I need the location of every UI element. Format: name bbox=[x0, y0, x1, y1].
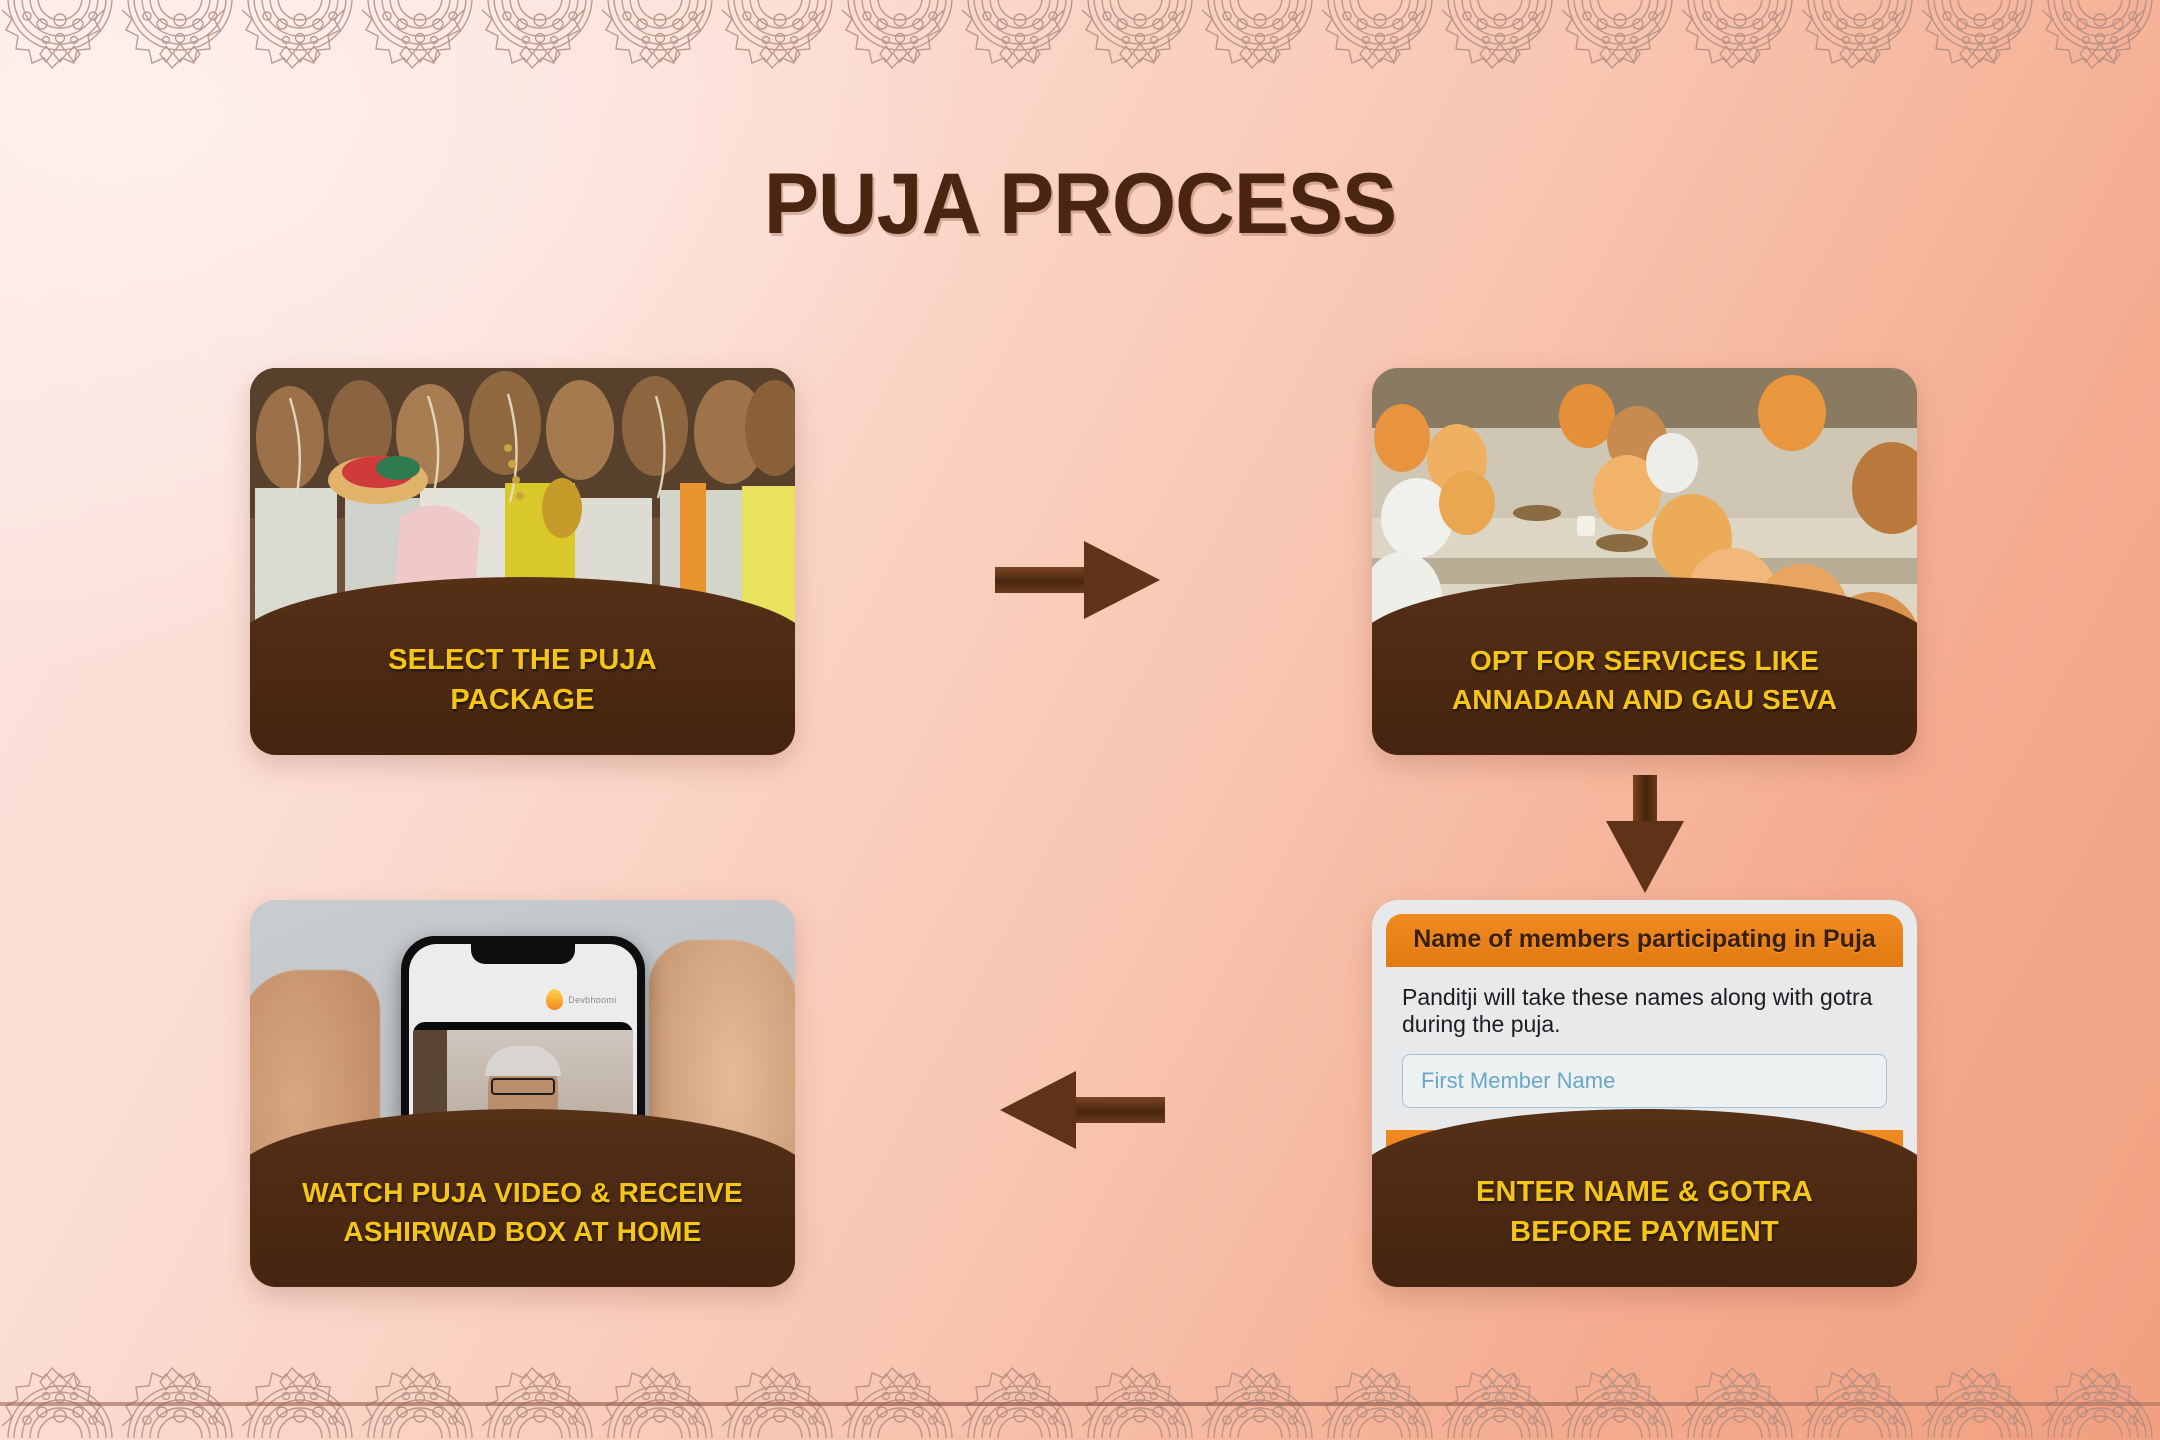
step-2-caption-band: OPT FOR SERVICES LIKE ANNADAAN AND GAU S… bbox=[1372, 540, 1917, 755]
step-2-caption-line1: OPT FOR SERVICES LIKE bbox=[1470, 644, 1819, 677]
step-3-caption-band: ENTER NAME & GOTRA BEFORE PAYMENT bbox=[1372, 1072, 1917, 1287]
step-card-3[interactable]: Name of members participating in Puja Pa… bbox=[1372, 900, 1917, 1287]
page-title: PUJA PROCESS bbox=[43, 155, 2117, 254]
step-4-caption-band: WATCH PUJA VIDEO & RECEIVE ASHIRWAD BOX … bbox=[250, 1072, 795, 1287]
step-4-caption-line1: WATCH PUJA VIDEO & RECEIVE bbox=[302, 1176, 743, 1209]
step-1-caption-band: SELECT THE PUJA PACKAGE bbox=[250, 540, 795, 755]
step-3-caption-line2: BEFORE PAYMENT bbox=[1510, 1215, 1779, 1249]
step-4-caption-line2: ASHIRWAD BOX AT HOME bbox=[343, 1215, 701, 1248]
arrow-head bbox=[1084, 541, 1160, 619]
bottom-divider-line bbox=[0, 1402, 2160, 1406]
phone-notch bbox=[471, 944, 575, 964]
step-1-caption-line1: SELECT THE PUJA bbox=[388, 643, 657, 677]
step-card-2[interactable]: OPT FOR SERVICES LIKE ANNADAAN AND GAU S… bbox=[1372, 368, 1917, 755]
step-4-caption: WATCH PUJA VIDEO & RECEIVE ASHIRWAD BOX … bbox=[250, 1137, 795, 1287]
step-3-caption-line1: ENTER NAME & GOTRA bbox=[1476, 1175, 1813, 1209]
arrow-head bbox=[1000, 1071, 1076, 1149]
arrow-shaft bbox=[1633, 775, 1657, 821]
step-2-caption: OPT FOR SERVICES LIKE ANNADAAN AND GAU S… bbox=[1372, 605, 1917, 755]
step-3-caption: ENTER NAME & GOTRA BEFORE PAYMENT bbox=[1372, 1137, 1917, 1287]
mandala-border-bottom bbox=[0, 1334, 2160, 1438]
form-note-panditji: Panditji will take these names along wit… bbox=[1386, 967, 1903, 1038]
mandala-border-top bbox=[0, 0, 2160, 76]
step-1-caption-line2: PACKAGE bbox=[450, 683, 594, 717]
brand-label: Devbhoomi bbox=[568, 995, 616, 1005]
step-1-caption: SELECT THE PUJA PACKAGE bbox=[250, 605, 795, 755]
step-2-caption-line2: ANNADAAN AND GAU SEVA bbox=[1452, 683, 1837, 716]
arrow-step1-to-step2 bbox=[995, 545, 1160, 615]
arrow-head bbox=[1606, 821, 1684, 893]
arrow-step2-to-step3 bbox=[1610, 775, 1680, 893]
form-header-members: Name of members participating in Puja bbox=[1386, 914, 1903, 967]
arrow-shaft bbox=[995, 567, 1084, 593]
step-card-1[interactable]: SELECT THE PUJA PACKAGE bbox=[250, 368, 795, 755]
arrow-shaft bbox=[1076, 1097, 1165, 1123]
arrow-step3-to-step4 bbox=[1000, 1075, 1165, 1145]
flame-icon bbox=[546, 989, 563, 1010]
app-brand: Devbhoomi bbox=[546, 989, 616, 1010]
step-card-4[interactable]: Devbhoomi 0:22 / 1:00 bbox=[250, 900, 795, 1287]
